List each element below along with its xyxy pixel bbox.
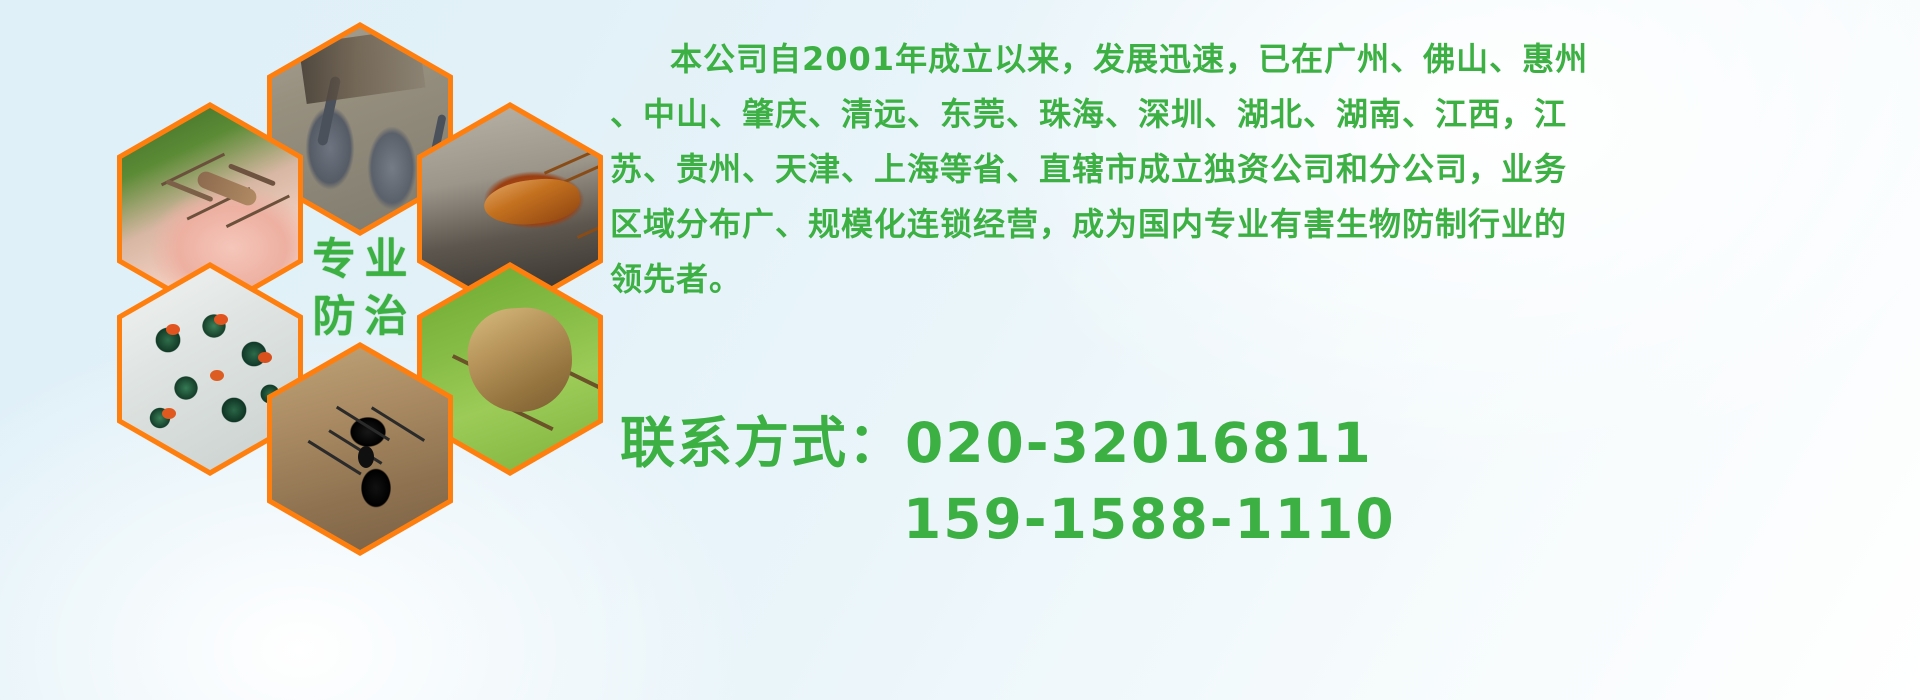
contact-secondary-phone[interactable]: 159-1588-1110 xyxy=(620,481,1920,557)
description-line: 、中山、肇庆、清远、东莞、珠海、深圳、湖北、湖南、江西，江 xyxy=(610,87,1910,142)
description-line: 领先者。 xyxy=(610,252,1910,307)
promo-banner: 专业 防治 本公司自2001年成立以来，发展迅速，已在广州、佛山、惠州 、中山、… xyxy=(0,0,1920,700)
slogan-line-1: 专业 xyxy=(304,232,417,289)
description-line: 区域分布广、规模化连锁经营，成为国内专业有害生物防制行业的 xyxy=(610,197,1910,252)
description-line: 本公司自2001年成立以来，发展迅速，已在广州、佛山、惠州 xyxy=(610,32,1910,87)
slogan-line-2: 防治 xyxy=(304,289,417,346)
contact-primary-phone[interactable]: 联系方式：020-32016811 xyxy=(620,405,1920,481)
description-line: 苏、贵州、天津、上海等省、直辖市成立独资公司和分公司，业务 xyxy=(610,142,1910,197)
contact-block: 联系方式：020-32016811 159-1588-1110 xyxy=(620,405,1920,557)
honeycomb-collage: 专业 防治 xyxy=(95,0,615,572)
company-description: 本公司自2001年成立以来，发展迅速，已在广州、佛山、惠州 、中山、肇庆、清远、… xyxy=(610,32,1910,307)
hex-cell-slogan: 专业 防治 xyxy=(267,182,453,396)
